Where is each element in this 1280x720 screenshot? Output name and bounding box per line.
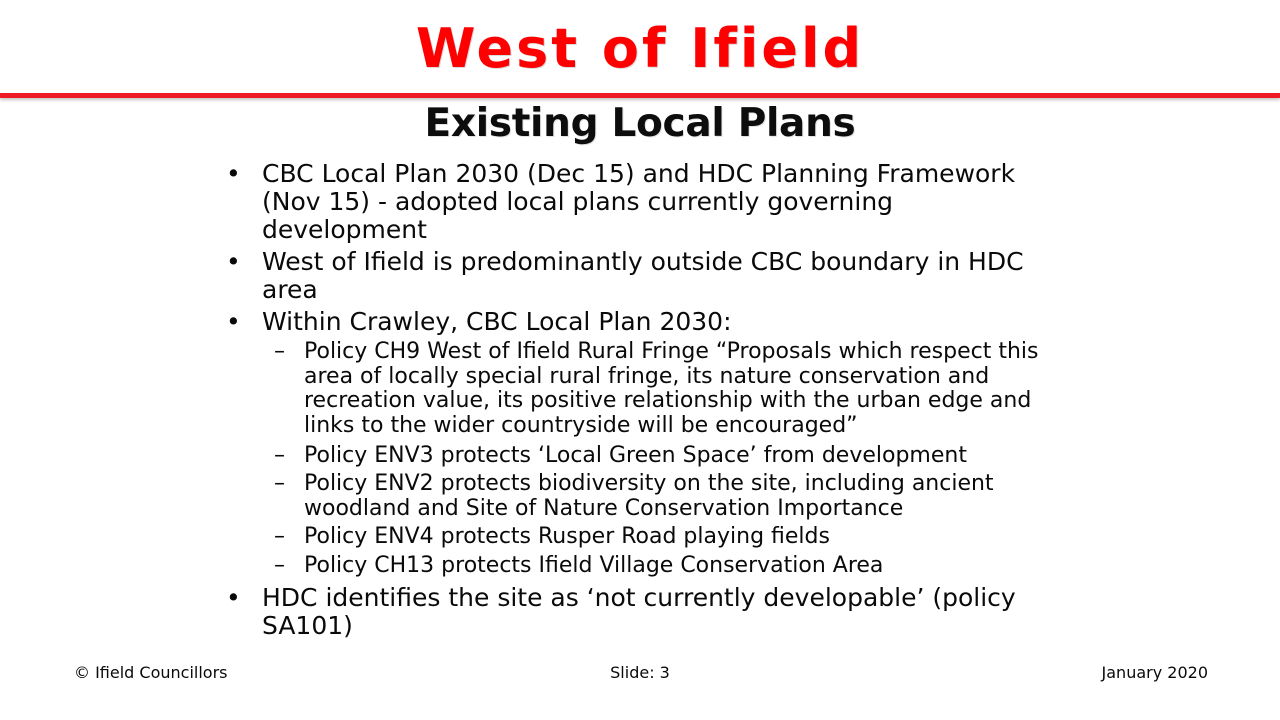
list-item-text: HDC identifies the site as ‘not currentl…	[262, 583, 1016, 640]
bullet-marker-icon: •	[226, 248, 241, 276]
subtitle-container: Existing Local Plans	[0, 104, 1280, 145]
red-divider-rule	[0, 93, 1280, 98]
list-item: • West of Ifield is predominantly outsid…	[218, 248, 1048, 304]
slide-footer: © Ifield Councillors Slide: 3 January 20…	[0, 663, 1280, 693]
sub-list-item: – Policy ENV4 protects Rusper Road playi…	[262, 525, 1048, 550]
dash-marker-icon: –	[274, 554, 285, 579]
footer-date: January 2020	[1102, 663, 1208, 682]
list-item: • Within Crawley, CBC Local Plan 2030: –…	[218, 308, 1048, 579]
sub-list-item-text: Policy ENV3 protects ‘Local Green Space’…	[304, 443, 967, 468]
sub-list-item: – Policy ENV2 protects biodiversity on t…	[262, 472, 1048, 521]
dash-marker-icon: –	[274, 525, 285, 550]
list-item: • CBC Local Plan 2030 (Dec 15) and HDC P…	[218, 160, 1048, 244]
sub-list-item-text: Policy ENV2 protects biodiversity on the…	[304, 471, 994, 521]
list-item-text: West of Ifield is predominantly outside …	[262, 247, 1024, 304]
bullet-list: • CBC Local Plan 2030 (Dec 15) and HDC P…	[218, 160, 1048, 640]
footer-slide-number: Slide: 3	[0, 663, 1280, 682]
sub-list-item: – Policy CH13 protects Ifield Village Co…	[262, 554, 1048, 579]
sub-list-item-text: Policy CH9 West of Ifield Rural Fringe “…	[304, 339, 1038, 438]
sub-list-item-text: Policy ENV4 protects Rusper Road playing…	[304, 524, 830, 549]
page-title: West of Ifield	[416, 22, 864, 76]
list-item-text: Within Crawley, CBC Local Plan 2030:	[262, 307, 732, 336]
title-container: West of Ifield	[0, 8, 1280, 90]
dash-marker-icon: –	[274, 444, 285, 469]
sub-bullet-list: – Policy CH9 West of Ifield Rural Fringe…	[262, 340, 1048, 579]
dash-marker-icon: –	[274, 340, 285, 365]
sub-list-item: – Policy CH9 West of Ifield Rural Fringe…	[262, 340, 1048, 439]
dash-marker-icon: –	[274, 472, 285, 497]
bullet-marker-icon: •	[226, 584, 241, 612]
bullet-marker-icon: •	[226, 160, 241, 188]
list-item-text: CBC Local Plan 2030 (Dec 15) and HDC Pla…	[262, 159, 1015, 244]
list-item: • HDC identifies the site as ‘not curren…	[218, 584, 1048, 640]
sub-list-item: – Policy ENV3 protects ‘Local Green Spac…	[262, 444, 1048, 469]
sub-list-item-text: Policy CH13 protects Ifield Village Cons…	[304, 553, 883, 578]
page-subtitle: Existing Local Plans	[425, 104, 856, 145]
slide: West of Ifield Existing Local Plans • CB…	[0, 0, 1280, 720]
bullet-marker-icon: •	[226, 308, 241, 336]
slide-body: • CBC Local Plan 2030 (Dec 15) and HDC P…	[218, 160, 1048, 644]
